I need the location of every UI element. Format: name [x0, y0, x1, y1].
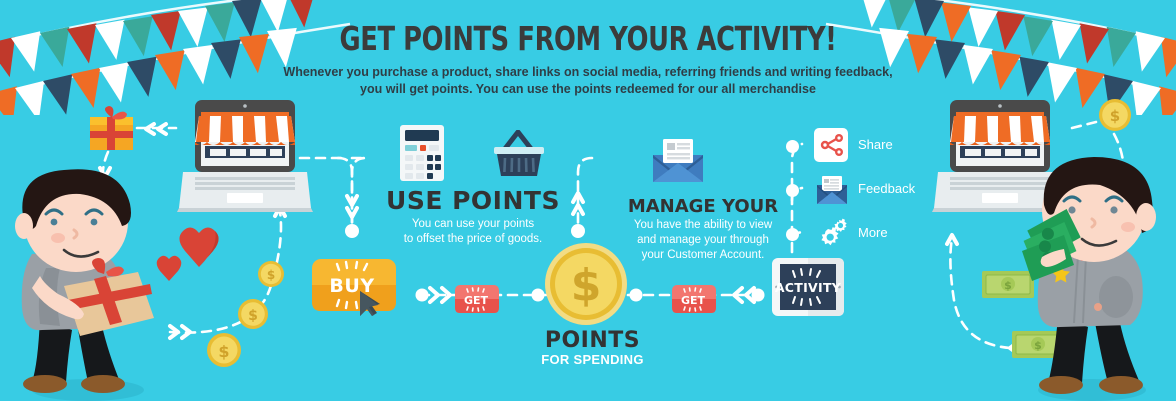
calculator-icon	[397, 124, 449, 182]
connector-usepoints-left	[338, 158, 352, 224]
tag-get-left-label: GET	[464, 294, 489, 307]
hearts-icon	[155, 223, 223, 289]
arrow-usepoints-up-1	[573, 205, 583, 214]
manage-your-description: You have the ability to view and manage …	[608, 218, 798, 263]
connector-usepoints-left-in	[352, 158, 366, 222]
gift-box-icon	[88, 105, 135, 152]
use-points-heading: USE POINTS	[373, 186, 573, 215]
manage-your-line-2: and manage your through	[608, 233, 798, 248]
dollar-coin-icon-top-right: $	[1098, 98, 1132, 132]
section-manage-your: MANAGE YOUR You have the ability to view…	[608, 196, 798, 263]
banner-subtitle: Whenever you purchase a product, share l…	[0, 64, 1176, 99]
subtitle-line-1: Whenever you purchase a product, share l…	[0, 64, 1176, 81]
arrow-usepoints-up-2	[573, 193, 583, 202]
svg-text:$: $	[1110, 107, 1120, 125]
arrow-gift-left-1	[158, 124, 166, 134]
use-points-description: You can use your points to offset the pr…	[373, 217, 573, 247]
list-item-more[interactable]: More	[786, 214, 946, 258]
manage-your-line-1: You have the ability to view	[608, 218, 798, 233]
tag-get-right-label: GET	[681, 294, 706, 307]
share-nodes-icon[interactable]	[814, 128, 850, 164]
svg-text:$: $	[218, 342, 229, 361]
bullet-dot	[786, 228, 799, 241]
list-item-share-label: Share	[858, 137, 893, 152]
button-dot	[1094, 303, 1102, 311]
shop-awning	[195, 116, 295, 145]
arrow-buy-1	[442, 288, 450, 302]
page-title: GET POINTS FROM YOUR ACTIVITY!	[129, 22, 1046, 57]
points-program-banner: GET POINTS FROM YOUR ACTIVITY! Whenever …	[0, 0, 1176, 401]
avatar-customer-right	[1020, 155, 1176, 401]
manage-your-heading: MANAGE YOUR	[608, 196, 798, 217]
activity-tablet[interactable]: ACTIVITY	[772, 258, 850, 321]
activity-options-list: Share Feedback	[786, 126, 946, 258]
manage-your-line-3: your Customer Account.	[608, 248, 798, 263]
svg-text:$: $	[248, 308, 258, 324]
list-item-share[interactable]: Share	[786, 126, 946, 170]
arrow-usepoints-dn-1	[347, 208, 357, 217]
envelope-icon[interactable]	[814, 172, 850, 208]
gears-icon[interactable]	[814, 216, 850, 252]
arrow-coins-2	[182, 326, 190, 338]
banner-header: GET POINTS FROM YOUR ACTIVITY! Whenever …	[0, 22, 1176, 98]
connector-laptop-to-coin-right	[1072, 122, 1096, 128]
points-subheading: FOR SPENDING	[510, 352, 675, 369]
shopping-basket-icon	[492, 130, 546, 178]
section-use-points: USE POINTS You can use your points to of…	[373, 186, 573, 247]
arrow-tag2-2	[746, 288, 754, 302]
tablet-screen-label: ACTIVITY	[775, 280, 842, 295]
use-points-line-1: You can use your points	[373, 217, 573, 232]
bullet-dot	[786, 140, 799, 153]
section-points: POINTS FOR SPENDING	[510, 328, 675, 369]
list-item-feedback[interactable]: Feedback	[786, 170, 946, 214]
buy-button-label: BUY	[329, 275, 374, 297]
use-points-line-2: to offset the price of goods.	[373, 232, 573, 247]
points-heading: POINTS	[510, 328, 675, 353]
svg-text:$: $	[1004, 279, 1012, 292]
list-item-more-label: More	[858, 225, 888, 240]
tag-get-right[interactable]: GET	[672, 285, 720, 317]
subtitle-line-2: you will get points. You can use the poi…	[0, 81, 1176, 98]
arrow-buy-2	[430, 288, 438, 302]
bullet-dot	[786, 184, 799, 197]
svg-text:$: $	[267, 268, 275, 282]
laptop-shop-icon-left	[177, 98, 313, 216]
buy-button[interactable]: BUY	[312, 259, 404, 317]
connector-usepoints-right	[578, 158, 592, 224]
arrow-tag2-1	[734, 288, 742, 302]
tag-get-left[interactable]: GET	[455, 285, 503, 317]
list-item-feedback-label: Feedback	[858, 181, 915, 196]
open-envelope-icon	[650, 137, 706, 184]
arrow-usepoints-dn-2	[347, 196, 357, 205]
arrow-money-up	[947, 235, 957, 244]
shop-awning	[950, 116, 1050, 145]
svg-text:$: $	[571, 260, 602, 311]
arrow-gift-left-2	[146, 124, 154, 134]
